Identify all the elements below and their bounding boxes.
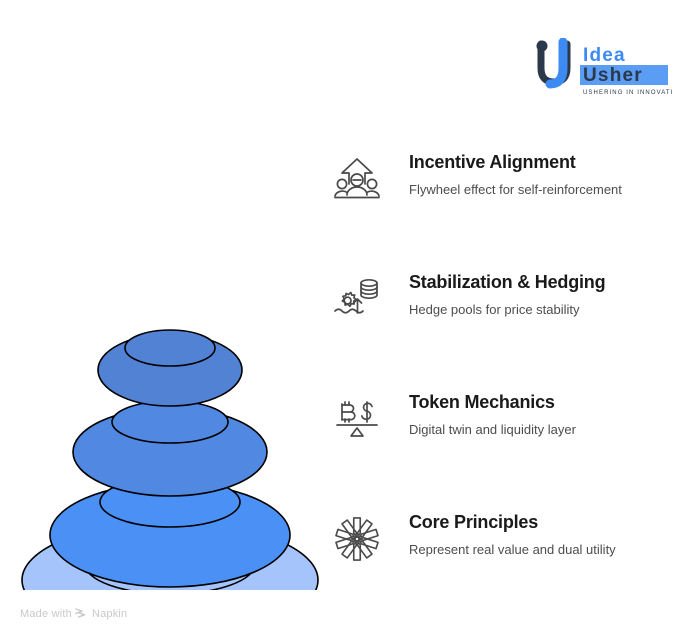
people-growth-arrow-icon — [325, 150, 389, 208]
list-item-title: Token Mechanics — [409, 392, 576, 413]
list-item-text: Incentive Alignment Flywheel effect for … — [389, 148, 622, 197]
list-item-title: Incentive Alignment — [409, 152, 622, 173]
list-item-subtitle: Flywheel effect for self-reinforcement — [409, 182, 622, 198]
list-item-text: Core Principles Represent real value and… — [389, 508, 616, 557]
list-item[interactable]: Stabilization & Hedging Hedge pools for … — [325, 268, 680, 328]
list-item[interactable]: Core Principles Represent real value and… — [325, 508, 680, 568]
torus-layer-incentive-alignment — [98, 330, 242, 406]
list-item-title: Core Principles — [409, 512, 616, 533]
stacked-torus-diagram — [0, 160, 340, 590]
logo-dot — [537, 41, 548, 52]
logo-tagline: USHERING IN INNOVATION — [583, 90, 673, 96]
idea-usher-logo: Idea Usher USHERING IN INNOVATION — [533, 38, 673, 100]
logo-word-usher: Usher — [583, 65, 643, 86]
footer-made-with-label: Made with — [20, 608, 72, 620]
list-item-text: Stabilization & Hedging Hedge pools for … — [389, 268, 605, 317]
footer-attribution: Made with Napkin — [20, 607, 127, 621]
logo-word-idea: Idea — [583, 45, 626, 66]
napkin-logo-icon — [75, 607, 86, 621]
torus-layer-stabilization-hedging — [73, 401, 267, 496]
footer-brand-name: Napkin — [92, 608, 127, 620]
gear-waves-coins-arrow-icon — [325, 270, 389, 328]
list-item-subtitle: Digital twin and liquidity layer — [409, 422, 576, 438]
list-item-subtitle: Represent real value and dual utility — [409, 542, 616, 558]
bitcoin-dollar-balance-scale-icon — [325, 390, 389, 448]
list-item[interactable]: Incentive Alignment Flywheel effect for … — [325, 148, 680, 208]
radial-burst-flower-icon — [325, 510, 389, 568]
list-item-text: Token Mechanics Digital twin and liquidi… — [389, 388, 576, 437]
list-item-subtitle: Hedge pools for price stability — [409, 302, 605, 318]
list-item-title: Stabilization & Hedging — [409, 272, 605, 293]
list-item[interactable]: Token Mechanics Digital twin and liquidi… — [325, 388, 680, 448]
